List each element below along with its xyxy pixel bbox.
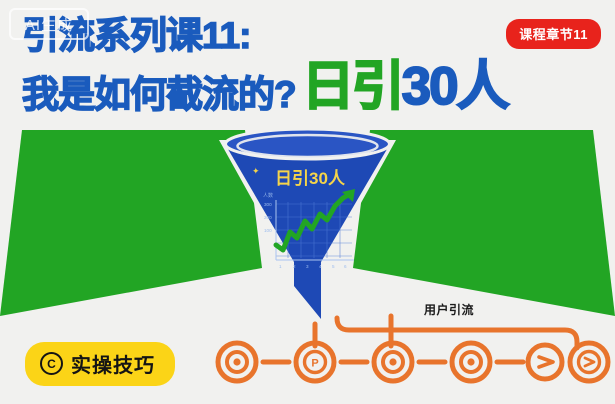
headline-block: 引流系列课11: 我是如何截流的? 日引 30人: [22, 17, 508, 113]
chart-trend-line: [276, 194, 350, 250]
svg-text:2: 2: [293, 264, 296, 269]
svg-text:3: 3: [306, 264, 309, 269]
headline-highlight-green: 日引: [302, 60, 402, 113]
chapter-badge: 课程章节11: [506, 19, 601, 49]
svg-text:1: 1: [279, 264, 282, 269]
svg-text:4: 4: [319, 264, 322, 269]
chart-xtick-labels: 1 2 3 4 5 6: [279, 264, 347, 269]
node-play-6[interactable]: [570, 343, 608, 381]
headline-question: 我是如何截流的?: [22, 76, 296, 113]
svg-text:300: 300: [264, 202, 272, 207]
svg-text:P: P: [311, 358, 318, 370]
svg-text:5: 5: [332, 264, 335, 269]
node-dot-1[interactable]: [218, 343, 256, 381]
svg-text:100: 100: [264, 228, 272, 233]
growth-chart: 人数 300 200 100 1 2 3: [256, 188, 366, 280]
headline-line-1: 引流系列课11:: [22, 17, 508, 54]
copyright-icon: C: [40, 352, 63, 375]
chart-ytick-labels: 300 200 100: [264, 202, 272, 233]
node-pin-2[interactable]: P: [296, 343, 334, 381]
svg-text:200: 200: [264, 215, 272, 220]
skills-badge: C 实操技巧: [25, 342, 175, 386]
headline-line-2: 我是如何截流的? 日引 30人: [22, 60, 508, 113]
chart-ylabel: 人数: [263, 192, 273, 199]
skills-badge-label: 实操技巧: [71, 349, 155, 378]
poster-canvas: AI生成 课程章节11 引流系列课11: 我是如何截流的? 日引 30人 ✦ 日…: [0, 0, 615, 404]
node-dot-4[interactable]: [452, 343, 490, 381]
node-dot-3[interactable]: [374, 343, 412, 381]
user-flow-diagram: P: [185, 296, 615, 396]
headline-highlight-blue: 30人: [402, 60, 508, 113]
funnel-rim: [226, 129, 390, 159]
node-play-5[interactable]: [528, 345, 562, 379]
funnel-label: 日引30人: [255, 164, 365, 189]
flow-label: 用户引流: [424, 301, 474, 318]
svg-text:6: 6: [344, 264, 347, 269]
